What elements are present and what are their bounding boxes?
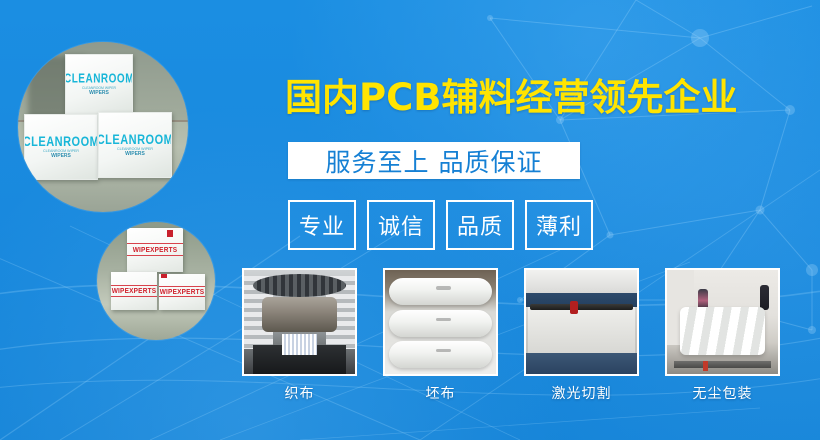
- slogan-text: 服务至上 品质保证: [326, 143, 543, 179]
- pack-brand-text: CLEANROOM: [98, 132, 172, 147]
- cleanroom-photo-scene: CLEANROOM CLEANROOM WIPER WIPERS CLEANRO…: [18, 42, 188, 212]
- promo-banner: CLEANROOM CLEANROOM WIPER WIPERS CLEANRO…: [0, 0, 820, 440]
- pack-brand-text: CLEANROOM: [65, 73, 133, 87]
- worker-figure: [698, 289, 708, 310]
- wiper-pack: CLEANROOM CLEANROOM WIPER WIPERS: [98, 112, 172, 178]
- process-item-cleanroom-packing[interactable]: 无尘包装: [665, 268, 780, 403]
- stool: [703, 361, 709, 371]
- process-thumbnail-caption: 无尘包装: [665, 383, 780, 403]
- wiper-pack: CLEANROOM CLEANROOM WIPER WIPERS: [24, 114, 98, 180]
- laser-cutter-photo: [526, 270, 637, 374]
- knitting-machine-photo: [244, 270, 355, 374]
- banner-headline: 国内PCB辅料经营领先企业: [285, 78, 737, 118]
- feature-tag-list: 专业 诚信 品质 薄利: [288, 200, 593, 250]
- process-thumbnail-image[interactable]: [524, 268, 639, 376]
- wiper-pack: CLEANROOM CLEANROOM WIPER WIPERS: [65, 54, 133, 116]
- wipexperts-pack: WIPEXPERTS: [111, 272, 157, 310]
- fabric-roll: [389, 278, 491, 305]
- process-item-greige-fabric[interactable]: 坯布: [383, 268, 498, 403]
- fabric-roll: [389, 341, 491, 368]
- process-thumbnail-caption: 激光切割: [524, 383, 639, 403]
- process-item-laser-cutting[interactable]: 激光切割: [524, 268, 639, 403]
- packing-room-photo: [667, 270, 778, 374]
- laser-head: [570, 301, 578, 313]
- needle-ring: [253, 274, 346, 297]
- worker-figure: [760, 285, 769, 310]
- process-thumbnail-image[interactable]: [242, 268, 357, 376]
- process-thumbnail-list: 织布 坯布: [242, 268, 780, 403]
- fabric-roll: [389, 310, 491, 337]
- pack-brand-text: WIPEXPERTS: [160, 288, 205, 296]
- pack-red-tag: [161, 274, 167, 278]
- pack-red-tag: [167, 230, 173, 237]
- process-thumbnail-caption: 坯布: [383, 383, 498, 403]
- feature-tag-label: 专业: [299, 209, 345, 241]
- wipexperts-pack: WIPEXPERTS: [159, 274, 205, 310]
- product-photo-cleanroom-wipers: CLEANROOM CLEANROOM WIPER WIPERS CLEANRO…: [18, 42, 188, 212]
- feature-tag-zhuanye[interactable]: 专业: [288, 200, 356, 250]
- fabric-rolls-photo: [385, 270, 496, 374]
- cutting-bed: [528, 307, 635, 353]
- feature-tag-baoli[interactable]: 薄利: [525, 200, 593, 250]
- process-thumbnail-caption: 织布: [242, 383, 357, 403]
- pack-brand-text: WIPEXPERTS: [133, 246, 178, 254]
- knitted-fabric: [282, 334, 318, 355]
- laser-gantry: [530, 304, 632, 309]
- feature-tag-label: 诚信: [378, 209, 424, 241]
- pack-brand-text: CLEANROOM: [24, 134, 98, 149]
- process-thumbnail-image[interactable]: [383, 268, 498, 376]
- slogan-bar: 服务至上 品质保证: [288, 142, 580, 179]
- feature-tag-label: 薄利: [536, 209, 582, 241]
- product-photo-wipexperts: WIPEXPERTS WIPEXPERTS WIPEXPERTS: [97, 222, 215, 340]
- pack-sub2-text: WIPERS: [51, 153, 71, 159]
- machine-drum: [262, 297, 337, 332]
- process-item-weaving[interactable]: 织布: [242, 268, 357, 403]
- pack-sub2-text: WIPERS: [89, 90, 109, 96]
- pack-brand-text: WIPEXPERTS: [112, 287, 157, 295]
- work-bench: [674, 361, 772, 368]
- pack-sub2-text: WIPERS: [125, 151, 145, 157]
- process-thumbnail-image[interactable]: [665, 268, 780, 376]
- feature-tag-pinzhi[interactable]: 品质: [446, 200, 514, 250]
- feature-tag-chengxin[interactable]: 诚信: [367, 200, 435, 250]
- wipexperts-photo-scene: WIPEXPERTS WIPEXPERTS WIPEXPERTS: [97, 222, 215, 340]
- wipexperts-pack: WIPEXPERTS: [127, 228, 183, 272]
- machine-top: [526, 270, 637, 293]
- feature-tag-label: 品质: [457, 209, 503, 241]
- packed-bags: [680, 307, 764, 355]
- machine-bottom-panel: [526, 353, 637, 374]
